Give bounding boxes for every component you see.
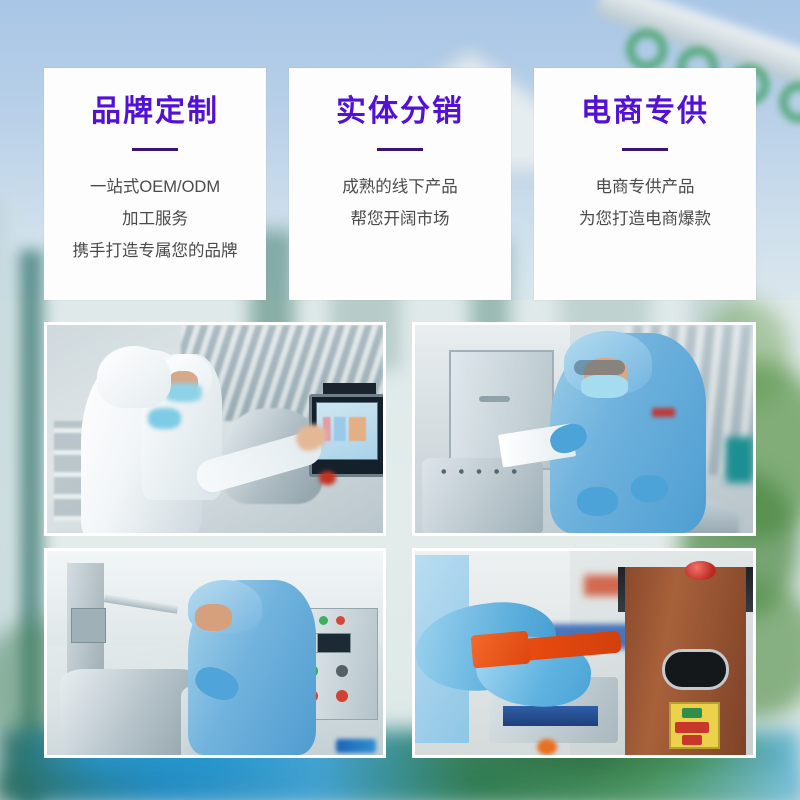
- scene-junction-box: [71, 608, 107, 643]
- scene-safety-goggles: [574, 360, 625, 375]
- feature-card-title: 电商专供: [534, 94, 756, 130]
- scene-emergency-stop-button: [685, 561, 715, 579]
- photo-mixing-tank-operation[interactable]: [44, 548, 386, 758]
- photo-scene: [47, 325, 383, 533]
- feature-card-line: 帮您开阔市场: [299, 203, 501, 235]
- scene-emergency-button: [319, 471, 336, 486]
- scene-push-button-red: [336, 690, 348, 702]
- feature-card-line: 携手打造专属您的品牌: [54, 235, 256, 267]
- photo-scene: [47, 551, 383, 755]
- feature-card-title: 品牌定制: [44, 94, 266, 130]
- scene-orange-knob: [537, 739, 557, 755]
- feature-card-line: 成熟的线下产品: [299, 171, 501, 203]
- feature-card-body: 一站式OEM/ODM 加工服务 携手打造专属您的品牌: [44, 171, 266, 268]
- feature-card-row: 品牌定制 一站式OEM/ODM 加工服务 携手打造专属您的品牌 实体分销 成熟的…: [44, 68, 756, 300]
- feature-card-line: 为您打造电商爆款: [544, 203, 746, 235]
- scene-door-handle: [479, 396, 509, 402]
- scene-worker-face: [195, 604, 232, 631]
- feature-card-offline-distribution[interactable]: 实体分销 成熟的线下产品 帮您开阔市场: [289, 68, 511, 300]
- page-root: 品牌定制 一站式OEM/ODM 加工服务 携手打造专属您的品牌 实体分销 成熟的…: [0, 0, 800, 800]
- feature-card-divider: [132, 148, 178, 151]
- feature-card-line: 加工服务: [54, 203, 256, 235]
- factory-photo-grid: [44, 322, 756, 758]
- background-bottom-strip-inner: [0, 774, 800, 800]
- scene-face-mask: [148, 408, 182, 429]
- scene-teal-sign: [726, 437, 753, 483]
- photo-scene: [415, 325, 753, 533]
- feature-card-title: 实体分销: [289, 94, 511, 130]
- scene-screen-graphics: [323, 417, 367, 442]
- feature-card-ecommerce-supply[interactable]: 电商专供 电商专供产品 为您打造电商爆款: [534, 68, 756, 300]
- feature-card-line: 电商专供产品: [544, 171, 746, 203]
- scene-orange-tool-grip: [471, 630, 531, 668]
- feature-card-line: 一站式OEM/ODM: [54, 171, 256, 203]
- scene-face-mask: [581, 375, 628, 398]
- feature-card-brand-customization[interactable]: 品牌定制 一站式OEM/ODM 加工服务 携手打造专属您的品牌: [44, 68, 266, 300]
- scene-sealing-belt: [503, 706, 598, 726]
- feature-card-divider: [622, 148, 668, 151]
- scene-machine-window: [662, 649, 729, 690]
- photo-scene: [415, 551, 753, 755]
- scene-worker-hood: [97, 346, 171, 408]
- scene-digital-display: [316, 633, 352, 653]
- photo-sealing-machine[interactable]: [412, 548, 756, 758]
- scene-warning-symbol: [682, 735, 702, 745]
- scene-watermark-logo: [336, 739, 376, 753]
- scene-warning-symbol: [682, 708, 702, 718]
- feature-card-divider: [377, 148, 423, 151]
- scene-glove: [577, 487, 618, 516]
- scene-warning-symbol: [675, 722, 709, 732]
- scene-panel-label: [323, 383, 377, 393]
- photo-cleanroom-touchscreen[interactable]: [44, 322, 386, 536]
- scene-glove: [631, 475, 668, 502]
- feature-card-body: 电商专供产品 为您打造电商爆款: [534, 171, 756, 235]
- scene-uniform-logo: [652, 408, 676, 416]
- photo-worker-inspection[interactable]: [412, 322, 756, 536]
- feature-card-body: 成熟的线下产品 帮您开阔市场: [289, 171, 511, 235]
